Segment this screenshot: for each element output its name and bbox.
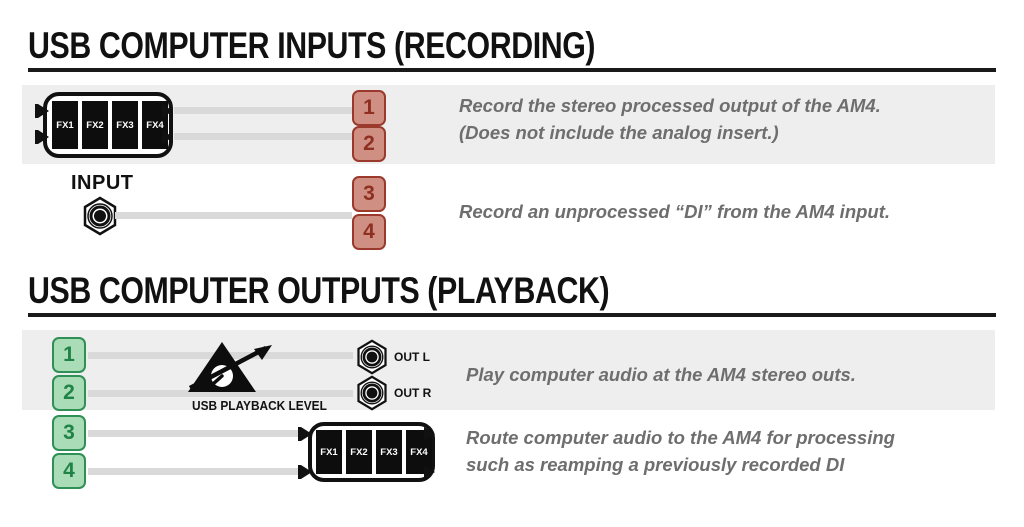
fx-boxes-bottom: FX1 FX2 FX3 FX4 (316, 430, 432, 474)
caption-inputs-12-line2: (Does not include the analog insert.) (459, 119, 779, 146)
fx-bottom-out-arrow-1 (424, 427, 435, 441)
caption-inputs-34-line1: Record an unprocessed “DI” from the AM4 … (459, 198, 890, 225)
badge-input-4[interactable]: 4 (352, 214, 386, 250)
fx-box-3: FX3 (112, 101, 138, 149)
badge-input-1[interactable]: 1 (352, 90, 386, 126)
fx-top-out-arrow-2 (162, 130, 173, 144)
badge-output-4[interactable]: 4 (52, 453, 86, 489)
section-rule-inputs (28, 68, 996, 72)
usb-routing-diagram: USB COMPUTER INPUTS (RECORDING) FX1 FX2 … (0, 0, 1024, 527)
fx-top-out-arrow-1 (162, 104, 173, 118)
wire-output-3 (88, 430, 301, 437)
badge-output-3[interactable]: 3 (52, 415, 86, 451)
fx-box-bottom-1: FX1 (316, 430, 342, 474)
badge-input-3[interactable]: 3 (352, 176, 386, 212)
badge-output-2[interactable]: 2 (52, 375, 86, 411)
input-jack-label: INPUT (71, 172, 134, 195)
usb-playback-level-icon (182, 336, 302, 403)
caption-outputs-12-line1: Play computer audio at the AM4 stereo ou… (466, 361, 856, 388)
fx-box-1: FX1 (52, 101, 78, 149)
badge-input-2[interactable]: 2 (352, 126, 386, 162)
section-title-outputs: USB COMPUTER OUTPUTS (PLAYBACK) (28, 271, 822, 311)
output-jack-right-label: OUT R (394, 386, 431, 400)
caption-outputs-34-line1: Route computer audio to the AM4 for proc… (466, 424, 895, 451)
fx-boxes-top: FX1 FX2 FX3 FX4 (52, 101, 168, 149)
input-jack-icon (80, 196, 120, 241)
section-rule-outputs (28, 313, 996, 317)
section-title-inputs: USB COMPUTER INPUTS (RECORDING) (28, 26, 822, 66)
fx-top-in-arrow-2 (38, 130, 49, 144)
usb-playback-level-label: USB PLAYBACK LEVEL (192, 399, 327, 413)
wire-input-di (115, 212, 352, 219)
output-jack-right-icon (354, 375, 390, 416)
section-heading-outputs: USB COMPUTER OUTPUTS (PLAYBACK) (28, 271, 996, 317)
wire-output-4 (88, 468, 301, 475)
output-jack-left-icon (354, 339, 390, 380)
output-jack-left-label: OUT L (394, 350, 430, 364)
fx-bottom-in-arrow-1 (301, 427, 312, 441)
fx-bottom-out-arrow-2 (424, 465, 435, 479)
wire-input-1 (174, 107, 352, 114)
badge-output-1[interactable]: 1 (52, 337, 86, 373)
fx-box-bottom-3: FX3 (376, 430, 402, 474)
section-heading-inputs: USB COMPUTER INPUTS (RECORDING) (28, 26, 996, 72)
fx-box-2: FX2 (82, 101, 108, 149)
caption-inputs-12-line1: Record the stereo processed output of th… (459, 92, 881, 119)
fx-top-in-arrow-1 (38, 104, 49, 118)
fx-box-bottom-2: FX2 (346, 430, 372, 474)
fx-bottom-in-arrow-2 (301, 465, 312, 479)
wire-input-2 (174, 133, 352, 140)
caption-outputs-34-line2: such as reamping a previously recorded D… (466, 451, 844, 478)
